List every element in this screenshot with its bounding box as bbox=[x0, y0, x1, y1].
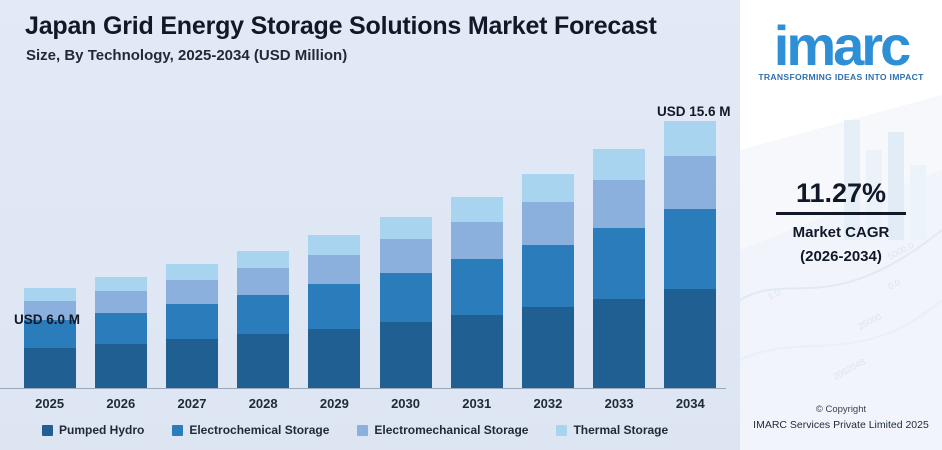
page-title: Japan Grid Energy Storage Solutions Mark… bbox=[25, 12, 657, 41]
cagr-label: Market CAGR bbox=[740, 224, 942, 241]
legend-swatch-icon bbox=[172, 425, 183, 436]
bar-segment bbox=[522, 202, 574, 245]
bar-group bbox=[380, 96, 432, 388]
bar-segment bbox=[522, 174, 574, 202]
x-axis-tick-label: 2030 bbox=[380, 396, 432, 411]
bar-segment bbox=[380, 217, 432, 239]
bar-segment bbox=[522, 245, 574, 308]
bar-segment bbox=[522, 307, 574, 388]
bar-segment bbox=[451, 197, 503, 222]
legend-swatch-icon bbox=[42, 425, 53, 436]
bar-segment bbox=[24, 348, 76, 388]
x-axis-labels: 2025202620272028202920302031203220332034 bbox=[14, 392, 726, 414]
plot-area bbox=[14, 96, 726, 388]
bar-segment bbox=[237, 334, 289, 388]
legend-item[interactable]: Pumped Hydro bbox=[42, 423, 144, 437]
bar-segment bbox=[664, 156, 716, 210]
bar-segment bbox=[380, 239, 432, 273]
brand-tagline: TRANSFORMING IDEAS INTO IMPACT bbox=[740, 72, 942, 82]
x-axis-tick-label: 2033 bbox=[593, 396, 645, 411]
brand-panel: 5000.0 0.0 25000 2062048 1.0 imarc TRANS… bbox=[740, 0, 942, 450]
bar-group bbox=[308, 96, 360, 388]
bar-segment bbox=[593, 228, 645, 299]
bar-segment bbox=[308, 329, 360, 388]
bar-segment bbox=[451, 259, 503, 315]
chart-subtitle: Size, By Technology, 2025-2034 (USD Mill… bbox=[26, 47, 347, 64]
x-axis-tick-label: 2029 bbox=[308, 396, 360, 411]
x-axis-tick-label: 2027 bbox=[166, 396, 218, 411]
bar-group bbox=[166, 96, 218, 388]
bar-segment bbox=[166, 339, 218, 388]
bar-segment bbox=[237, 268, 289, 295]
chart-panel: Japan Grid Energy Storage Solutions Mark… bbox=[0, 0, 740, 450]
bar-segment bbox=[166, 264, 218, 280]
bar-group bbox=[664, 96, 716, 388]
callout-end-value: USD 15.6 M bbox=[657, 104, 731, 119]
bar-segment bbox=[593, 149, 645, 180]
bar-segment bbox=[664, 121, 716, 156]
bar-series-container bbox=[14, 96, 726, 388]
imarc-logo: imarc bbox=[740, 18, 942, 74]
bar-group bbox=[593, 96, 645, 388]
chart-legend: Pumped HydroElectrochemical StorageElect… bbox=[42, 418, 726, 442]
bar-segment bbox=[24, 288, 76, 301]
bar-segment bbox=[237, 295, 289, 334]
bar-segment bbox=[593, 299, 645, 388]
bar-segment bbox=[166, 280, 218, 304]
x-axis-tick-label: 2034 bbox=[664, 396, 716, 411]
legend-swatch-icon bbox=[556, 425, 567, 436]
bar-segment bbox=[237, 251, 289, 269]
copyright-text: © Copyright bbox=[740, 404, 942, 415]
legend-item[interactable]: Thermal Storage bbox=[556, 423, 668, 437]
x-axis-tick-label: 2031 bbox=[451, 396, 503, 411]
bar-group bbox=[451, 96, 503, 388]
x-axis-tick-label: 2025 bbox=[24, 396, 76, 411]
bar-segment bbox=[451, 315, 503, 388]
cagr-divider bbox=[776, 212, 906, 215]
legend-label: Thermal Storage bbox=[573, 423, 668, 437]
x-axis-line bbox=[0, 388, 726, 389]
bar-segment bbox=[593, 180, 645, 228]
x-axis-tick-label: 2026 bbox=[95, 396, 147, 411]
legend-label: Electromechanical Storage bbox=[374, 423, 528, 437]
bar-segment bbox=[308, 255, 360, 285]
legend-swatch-icon bbox=[357, 425, 368, 436]
bar-segment bbox=[380, 322, 432, 388]
bar-segment bbox=[95, 291, 147, 312]
bar-segment bbox=[166, 304, 218, 339]
bar-group bbox=[24, 96, 76, 388]
legend-label: Electrochemical Storage bbox=[189, 423, 329, 437]
bar-segment bbox=[664, 289, 716, 388]
bar-segment bbox=[308, 235, 360, 255]
bar-segment bbox=[95, 277, 147, 291]
x-axis-tick-label: 2032 bbox=[522, 396, 574, 411]
bar-segment bbox=[308, 284, 360, 328]
bar-segment bbox=[95, 313, 147, 344]
bar-segment bbox=[664, 209, 716, 289]
bar-group bbox=[522, 96, 574, 388]
bar-segment bbox=[380, 273, 432, 323]
legend-item[interactable]: Electrochemical Storage bbox=[172, 423, 329, 437]
bar-group bbox=[95, 96, 147, 388]
legend-item[interactable]: Electromechanical Storage bbox=[357, 423, 528, 437]
callout-start-value: USD 6.0 M bbox=[14, 312, 80, 327]
company-name: IMARC Services Private Limited 2025 bbox=[740, 419, 942, 431]
cagr-value: 11.27% bbox=[740, 178, 942, 209]
legend-label: Pumped Hydro bbox=[59, 423, 144, 437]
bar-segment bbox=[95, 344, 147, 388]
bar-segment bbox=[451, 222, 503, 260]
bar-group bbox=[237, 96, 289, 388]
x-axis-tick-label: 2028 bbox=[237, 396, 289, 411]
cagr-period: (2026-2034) bbox=[740, 248, 942, 265]
infographic-root: Japan Grid Energy Storage Solutions Mark… bbox=[0, 0, 942, 450]
